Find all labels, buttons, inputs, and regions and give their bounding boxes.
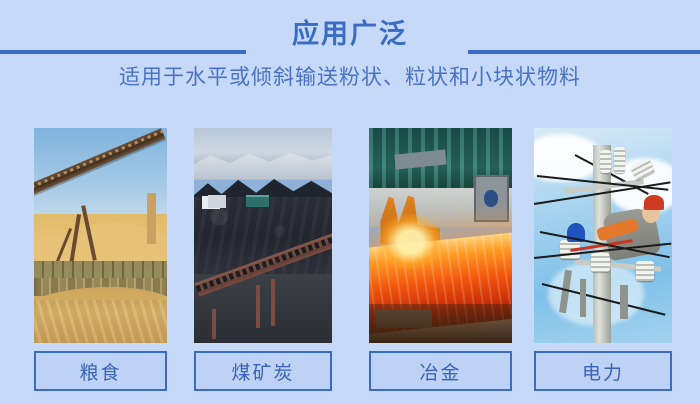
- promo-banner: 应用广泛 适用于水平或倾斜输送粉状、粒状和小块状物料: [0, 0, 700, 404]
- banner-header: 应用广泛 适用于水平或倾斜输送粉状、粒状和小块状物料: [0, 0, 700, 112]
- card-label-grain[interactable]: 粮食: [34, 351, 167, 391]
- application-card-coal[interactable]: 煤矿炭: [194, 124, 332, 394]
- title-row: 应用广泛: [0, 16, 700, 56]
- card-label-metallurgy[interactable]: 冶金: [369, 351, 512, 391]
- card-label-coal[interactable]: 煤矿炭: [194, 351, 332, 391]
- application-card-grain[interactable]: 粮食: [34, 124, 167, 394]
- coal-photo: [194, 128, 332, 343]
- page-title: 应用广泛: [0, 16, 700, 54]
- card-label-power[interactable]: 电力: [534, 351, 672, 391]
- application-card-power[interactable]: 电力: [534, 124, 672, 394]
- page-subtitle: 适用于水平或倾斜输送粉状、粒状和小块状物料: [0, 62, 700, 92]
- application-card-metallurgy[interactable]: 冶金: [369, 124, 512, 394]
- metallurgy-photo: [369, 128, 512, 343]
- grain-photo: [34, 128, 167, 343]
- application-card-list: 粮食 煤矿炭: [0, 124, 700, 399]
- power-photo: [534, 128, 672, 343]
